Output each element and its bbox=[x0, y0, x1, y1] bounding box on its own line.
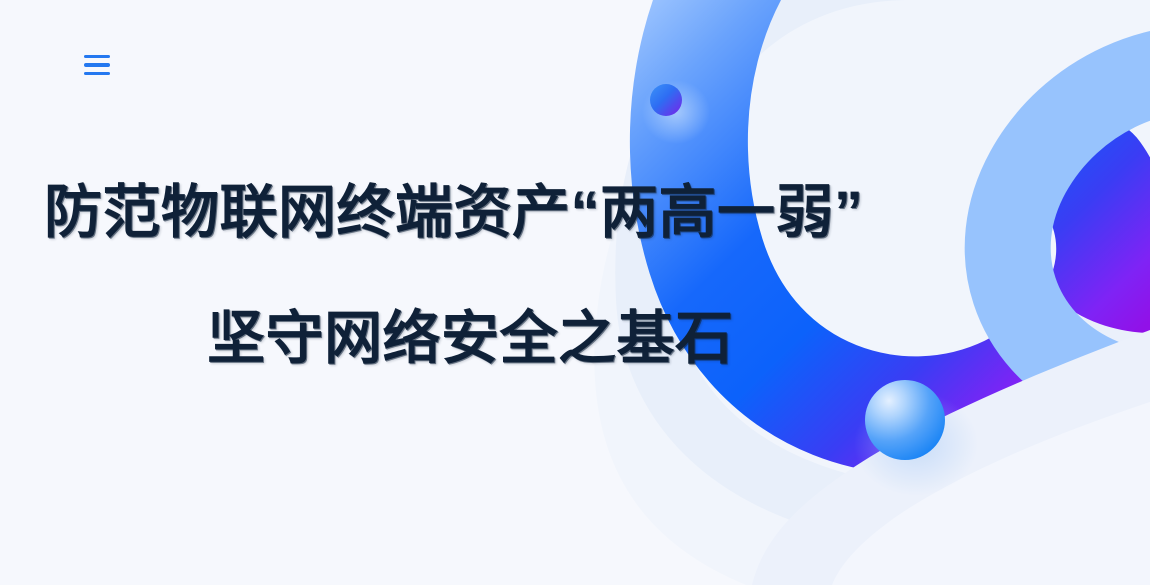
lower-pale-band bbox=[752, 330, 1150, 585]
hamburger-menu-icon-bar-2 bbox=[84, 63, 110, 67]
lower-pale-band-2 bbox=[832, 402, 1150, 585]
small-sphere-glow bbox=[642, 80, 710, 144]
headline-line-1: 防范物联网终端资产“两高一弱” bbox=[44, 184, 880, 242]
small-gradient-sphere bbox=[650, 84, 682, 116]
headline-block: 防范物联网终端资产“两高一弱” 坚守网络安全之基石 bbox=[0, 184, 880, 368]
mid-pale-arc bbox=[978, 44, 1150, 389]
hamburger-menu-icon-bar-3 bbox=[84, 72, 110, 76]
hamburger-menu-icon-bar-1 bbox=[84, 55, 110, 59]
inner-light-blue-hook bbox=[1008, 67, 1150, 398]
large-blue-sphere bbox=[865, 380, 945, 460]
headline-line-2: 坚守网络安全之基石 bbox=[207, 310, 880, 368]
slide-canvas: 防范物联网终端资产“两高一弱” 坚守网络安全之基石 bbox=[0, 0, 1150, 585]
hamburger-menu-button[interactable] bbox=[78, 48, 116, 82]
large-sphere-glow bbox=[854, 392, 978, 496]
